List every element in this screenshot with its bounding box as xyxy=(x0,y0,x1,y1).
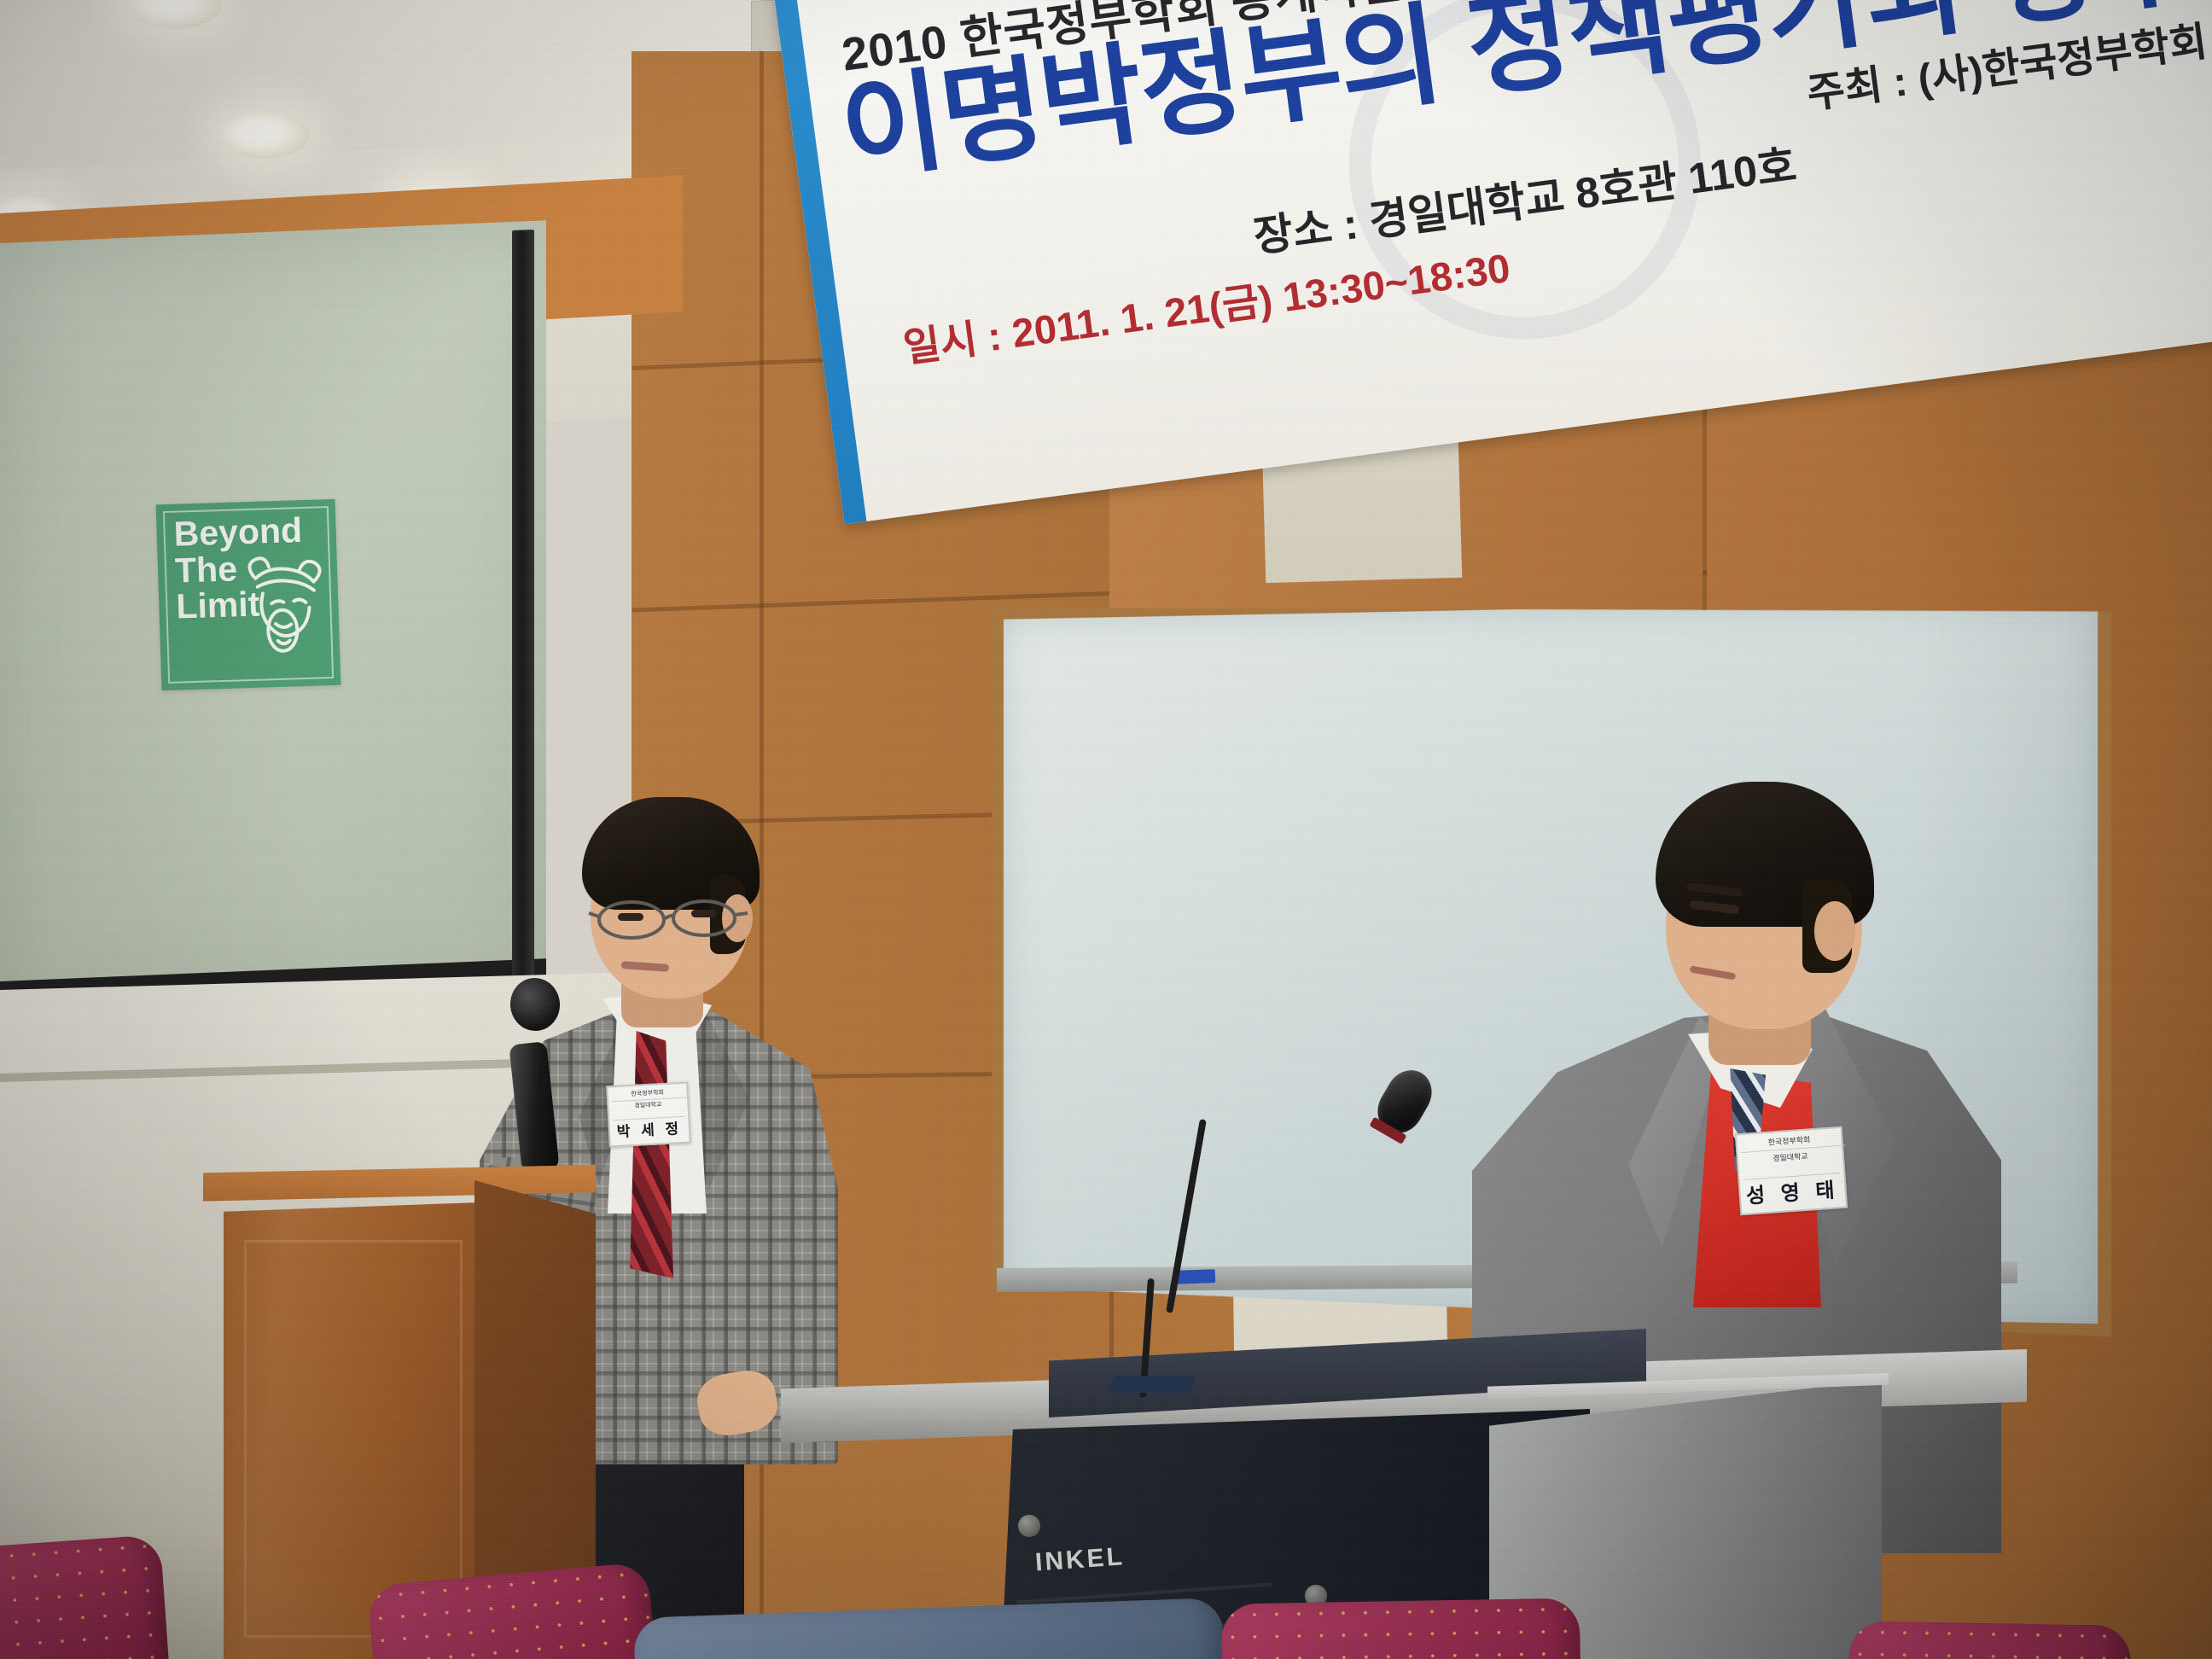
right-speaker-ear xyxy=(1814,901,1855,961)
chair-front-right xyxy=(1221,1598,1582,1659)
left-speaker-badge-org-line2: 경일대학교 xyxy=(608,1100,687,1112)
bear-head-icon xyxy=(236,550,335,664)
eyeglasses-icon xyxy=(587,896,749,949)
left-speaker-eye-left xyxy=(618,913,643,921)
banner-date: 일시 : 2011. 1. 21(금) 13:30~18:30 xyxy=(899,235,1513,374)
rack-knob-top xyxy=(1018,1515,1040,1537)
sign-line-1: Beyond xyxy=(173,512,303,552)
left-speaker-eye-right xyxy=(691,910,717,917)
right-speaker-badge-name: 성 영 태 xyxy=(1740,1173,1846,1209)
chair-front-far-right xyxy=(1848,1621,2131,1659)
chair-front-left xyxy=(0,1534,171,1659)
right-speaker-badge-org-line1: 한국정부학회 xyxy=(1737,1132,1842,1150)
left-speaker-badge-org: 한국정부학회 경일대학교 xyxy=(608,1088,688,1113)
lectern-bevel xyxy=(244,1240,463,1638)
gooseneck-microphone-base-icon xyxy=(1108,1376,1196,1393)
ceiling-light-2 xyxy=(220,111,309,159)
left-speaker-badge: 한국정부학회 경일대학교 박 세 정 xyxy=(606,1082,691,1148)
conference-room-photo: Beyond The Limit 2010 한국정부학회 동계학술대회 이명박정… xyxy=(0,0,2212,1659)
inkel-brand-label: INKEL xyxy=(1034,1542,1126,1577)
right-speaker-badge-org: 한국정부학회 경일대학교 xyxy=(1737,1132,1842,1167)
right-speaker-badge: 한국정부학회 경일대학교 성 영 태 xyxy=(1735,1126,1848,1216)
left-speaker-badge-name: 박 세 정 xyxy=(609,1116,689,1142)
whiteboard-magnet xyxy=(1176,1269,1216,1284)
beyond-the-limit-sign: Beyond The Limit xyxy=(156,499,341,690)
